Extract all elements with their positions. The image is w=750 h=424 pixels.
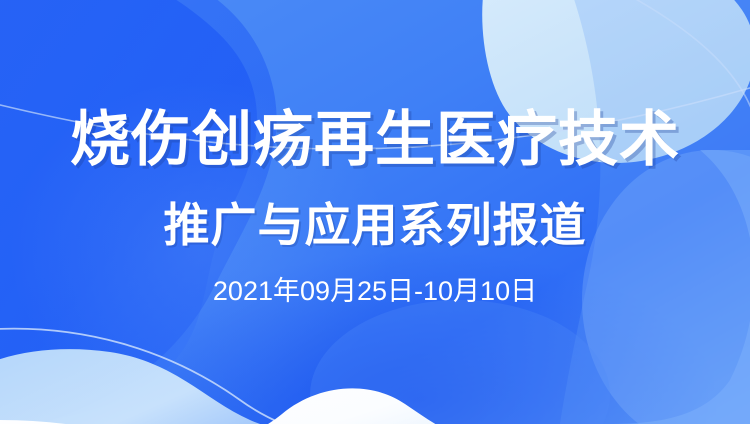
banner-title-main: 烧伤创疡再生医疗技术 xyxy=(0,106,750,174)
banner-date-range: 2021年09月25日-10月10日 xyxy=(0,274,750,308)
banner-content: 烧伤创疡再生医疗技术 推广与应用系列报道 2021年09月25日-10月10日 xyxy=(0,0,750,424)
banner-title-sub: 推广与应用系列报道 xyxy=(0,198,750,252)
promo-banner: 烧伤创疡再生医疗技术 推广与应用系列报道 2021年09月25日-10月10日 xyxy=(0,0,750,424)
